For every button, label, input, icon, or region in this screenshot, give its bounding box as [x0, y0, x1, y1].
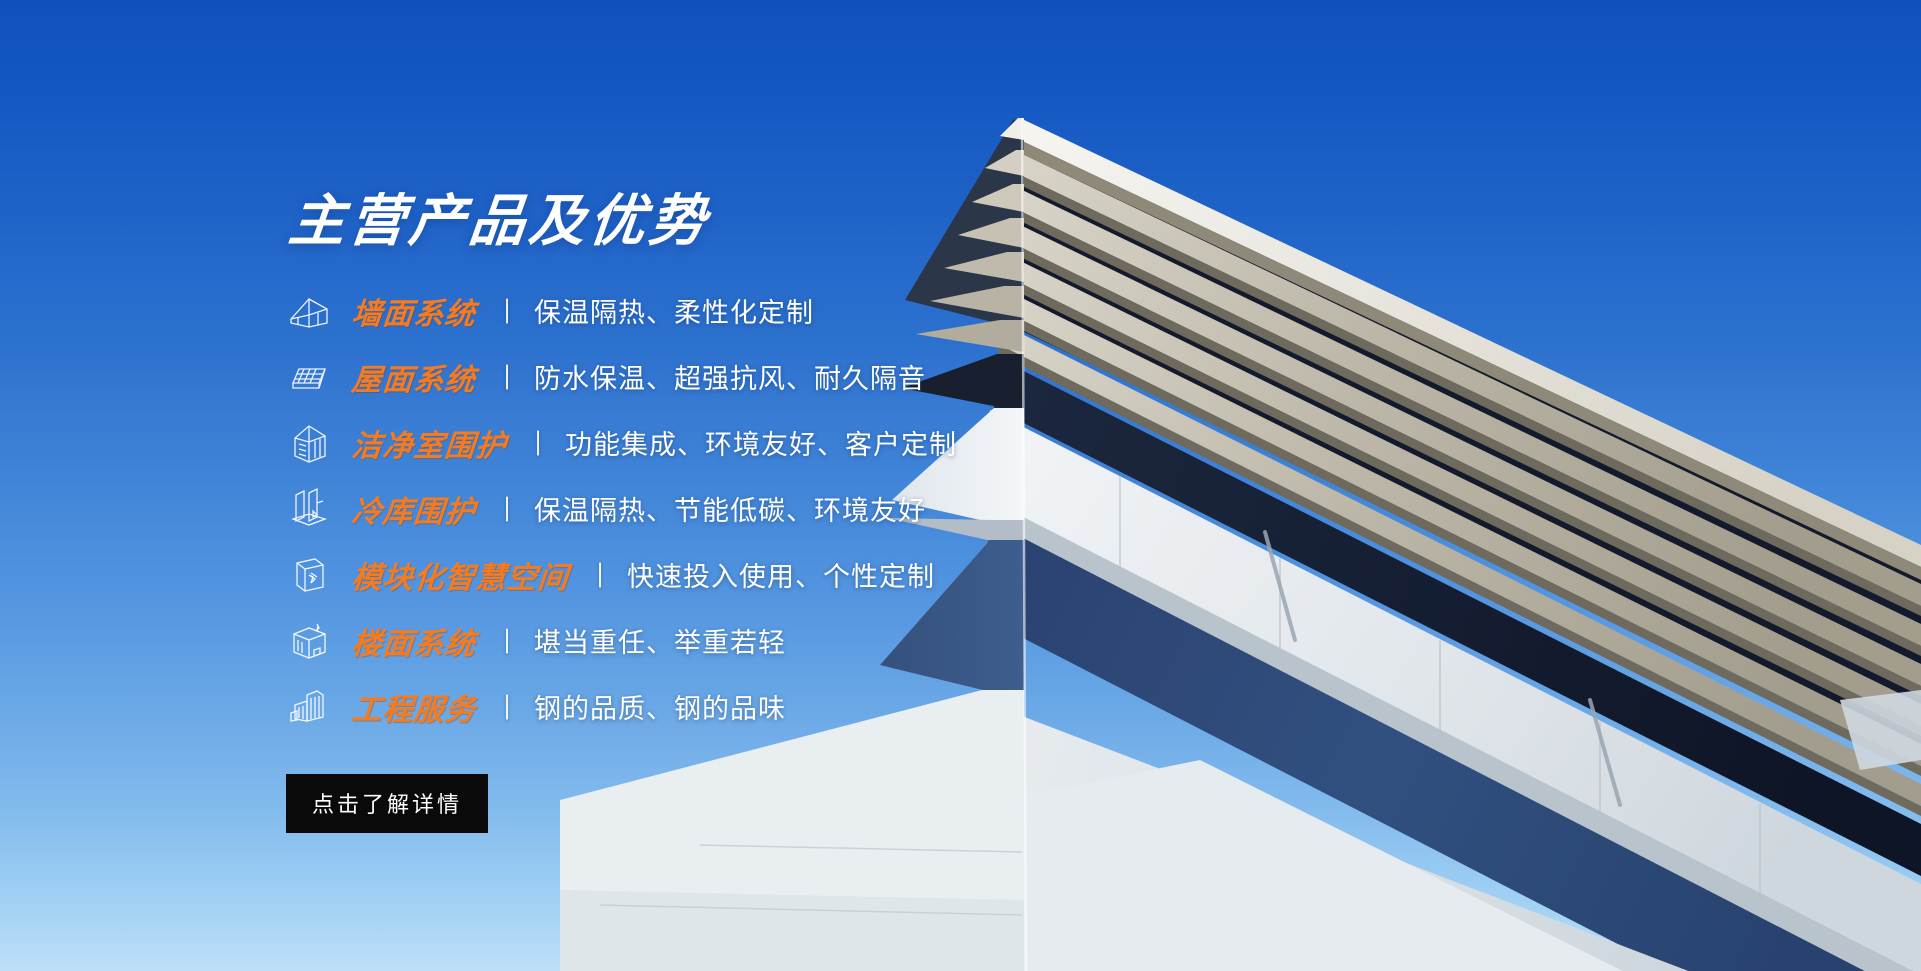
list-item[interactable]: 洁净室围护 丨 功能集成、环境友好、客户定制 — [286, 420, 1386, 466]
floor-deck-icon — [286, 619, 332, 663]
list-item[interactable]: 工程服务 丨 钢的品质、钢的品味 — [286, 684, 1386, 730]
page-title: 主营产品及优势 — [286, 190, 1392, 252]
item-separator: 丨 — [499, 688, 515, 725]
hero-banner: 主营产品及优势 墙面系统 丨 保温隔热、柔性化定制 — [0, 0, 1921, 971]
list-item[interactable]: 楼面系统 丨 堪当重任、举重若轻 — [286, 618, 1386, 664]
cleanroom-icon — [286, 421, 332, 465]
learn-more-button[interactable]: 点击了解详情 — [286, 774, 488, 833]
item-description: 保温隔热、柔性化定制 — [534, 291, 814, 330]
item-title: 墙面系统 — [350, 289, 478, 333]
list-item[interactable]: 墙面系统 丨 保温隔热、柔性化定制 — [286, 288, 1386, 334]
cold-storage-icon — [286, 487, 332, 531]
list-item[interactable]: 屋面系统 丨 防水保温、超强抗风、耐久隔音 — [286, 354, 1386, 400]
modular-cube-icon — [286, 553, 332, 597]
list-item[interactable]: 模块化智慧空间 丨 快速投入使用、个性定制 — [286, 552, 1386, 598]
item-description: 保温隔热、节能低碳、环境友好 — [534, 489, 926, 528]
wall-panel-icon — [286, 289, 332, 333]
item-description: 快速投入使用、个性定制 — [627, 555, 935, 594]
engineering-icon — [286, 685, 332, 729]
item-title: 洁净室围护 — [350, 421, 509, 465]
item-title: 工程服务 — [350, 685, 478, 729]
item-separator: 丨 — [499, 358, 515, 395]
item-separator: 丨 — [499, 622, 515, 659]
item-title: 冷库围护 — [350, 487, 478, 531]
item-title: 模块化智慧空间 — [350, 553, 571, 597]
item-title: 楼面系统 — [350, 619, 478, 663]
item-separator: 丨 — [592, 556, 608, 593]
roof-panel-icon — [286, 355, 332, 399]
item-title: 屋面系统 — [350, 355, 478, 399]
item-description: 钢的品质、钢的品味 — [534, 687, 786, 726]
product-list: 墙面系统 丨 保温隔热、柔性化定制 屋面系统 丨 防水保温、超强抗 — [286, 288, 1386, 730]
list-item[interactable]: 冷库围护 丨 保温隔热、节能低碳、环境友好 — [286, 486, 1386, 532]
item-description: 防水保温、超强抗风、耐久隔音 — [534, 357, 926, 396]
item-description: 堪当重任、举重若轻 — [534, 621, 786, 660]
item-description: 功能集成、环境友好、客户定制 — [565, 423, 957, 462]
item-separator: 丨 — [499, 490, 515, 527]
item-separator: 丨 — [499, 292, 515, 329]
hero-content: 主营产品及优势 墙面系统 丨 保温隔热、柔性化定制 — [286, 190, 1386, 833]
item-separator: 丨 — [530, 424, 546, 461]
